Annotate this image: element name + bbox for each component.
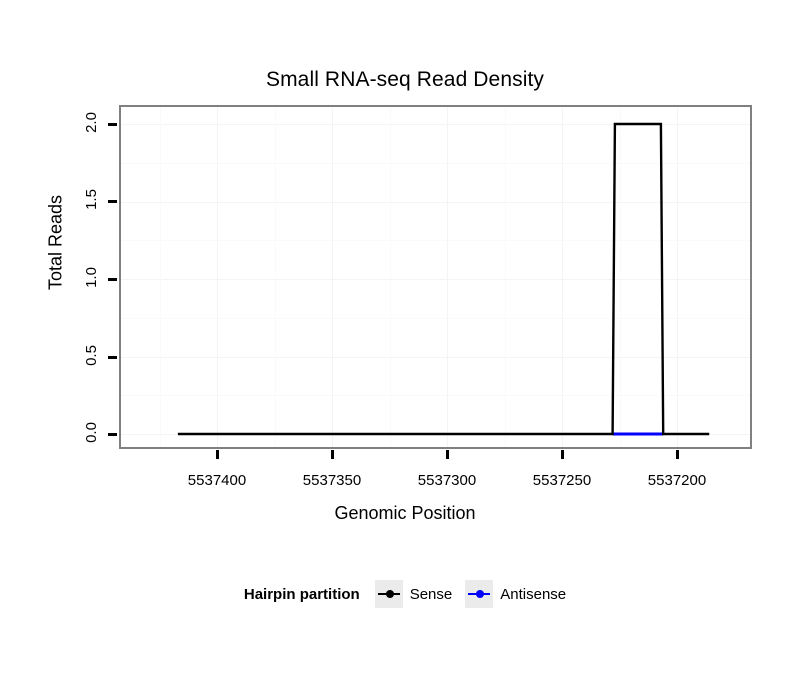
legend-entry-sense[interactable]: Sense	[375, 580, 453, 608]
y-axis-title: Total Reads	[46, 143, 67, 343]
y-tick-mark	[108, 278, 117, 281]
legend-title: Hairpin partition	[244, 586, 360, 603]
plot-panel	[119, 105, 752, 449]
legend-key-antisense	[465, 580, 493, 608]
y-tick-label: 2.0	[0, 114, 102, 131]
data-layer	[121, 107, 750, 447]
y-tick-mark	[108, 433, 117, 436]
y-tick-label: 0.0	[0, 424, 102, 441]
x-tick-label: 5537200	[607, 472, 747, 489]
x-tick-mark	[216, 450, 219, 459]
legend-dot-sense	[386, 590, 394, 598]
chart-legend: Hairpin partition Sense Antisense	[0, 580, 810, 608]
x-tick-mark	[446, 450, 449, 459]
y-tick-mark	[108, 123, 117, 126]
x-axis-title: Genomic Position	[0, 503, 810, 524]
y-tick-label-text: 0.0	[83, 422, 100, 443]
y-tick-label-text: 0.5	[83, 345, 100, 366]
chart-figure: Small RNA-seq Read Density 2.01.51.00.50…	[0, 0, 810, 690]
y-tick-label-text: 2.0	[83, 112, 100, 133]
legend-label-antisense: Antisense	[500, 586, 566, 603]
y-tick-mark	[108, 200, 117, 203]
x-tick-mark	[561, 450, 564, 459]
y-tick-mark	[108, 356, 117, 359]
y-tick-label-text: 1.5	[83, 189, 100, 210]
legend-label-sense: Sense	[410, 586, 453, 603]
y-tick-label: 0.5	[0, 347, 102, 364]
y-tick-label-text: 1.0	[83, 267, 100, 288]
legend-key-sense	[375, 580, 403, 608]
series-line-sense	[178, 124, 709, 434]
x-tick-mark	[331, 450, 334, 459]
series-canvas	[121, 107, 750, 447]
legend-entry-antisense[interactable]: Antisense	[465, 580, 566, 608]
chart-title: Small RNA-seq Read Density	[0, 68, 810, 92]
x-tick-mark	[676, 450, 679, 459]
legend-dot-antisense	[476, 590, 484, 598]
